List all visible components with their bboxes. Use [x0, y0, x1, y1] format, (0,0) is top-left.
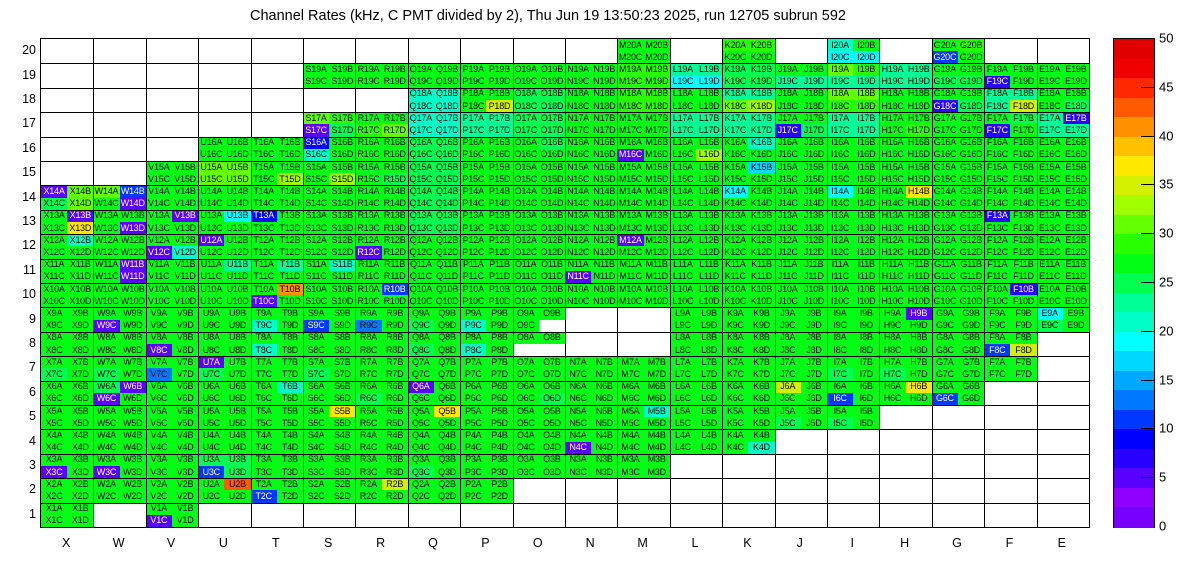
heatmap-channel-cell: U12A	[198, 234, 224, 246]
heatmap-channel-cell: P5A	[460, 405, 486, 417]
heatmap-channel-cell: S5A	[303, 405, 329, 417]
heatmap-channel-cell: E17C	[1037, 124, 1063, 136]
heatmap-channel-cell	[565, 332, 591, 344]
heatmap-channel-cell: K10B	[748, 283, 774, 295]
heatmap-channel-cell: V5C	[146, 417, 172, 429]
heatmap-channel-cell: T14D	[277, 198, 303, 210]
heatmap-channel-cell: Q14D	[434, 198, 460, 210]
heatmap-channel-cell: L10D	[696, 295, 722, 307]
heatmap-channel-cell: H7C	[879, 368, 905, 380]
heatmap-channel-cell: V13D	[172, 222, 198, 234]
heatmap-channel-cell: F15A	[984, 161, 1010, 173]
heatmap-channel-cell: R13C	[355, 222, 381, 234]
heatmap-channel-cell: Q3B	[434, 454, 460, 466]
heatmap-channel-cell: P13B	[486, 210, 512, 222]
heatmap-channel-cell: H9B	[906, 307, 932, 319]
heatmap-channel-cell: R13B	[382, 210, 408, 222]
heatmap-channel-cell: J9C	[775, 320, 801, 332]
heatmap-channel-cell: W11A	[93, 259, 119, 271]
heatmap-channel-cell: R3B	[382, 454, 408, 466]
heatmap-channel-cell: E14C	[1037, 198, 1063, 210]
heatmap-channel-cell: M15B	[644, 161, 670, 173]
heatmap-channel-cell: I13B	[853, 210, 879, 222]
heatmap-channel-cell: P11B	[486, 259, 512, 271]
y-axis-tick-label: 17	[8, 116, 36, 130]
grid-line-horizontal	[41, 185, 1089, 186]
heatmap-channel-cell	[879, 405, 905, 417]
heatmap-channel-cell: X5C	[41, 417, 67, 429]
heatmap-channel-cell: O18A	[513, 88, 539, 100]
heatmap-channel-cell: U5C	[198, 417, 224, 429]
heatmap-channel-cell	[1037, 332, 1063, 344]
heatmap-channel-cell: O6B	[539, 381, 565, 393]
heatmap-channel-cell: G15A	[932, 161, 958, 173]
heatmap-channel-cell: L11D	[696, 271, 722, 283]
heatmap-channel-cell: T2D	[277, 490, 303, 502]
heatmap-channel-cell: E18C	[1037, 100, 1063, 112]
heatmap-channel-cell: Q11C	[408, 271, 434, 283]
heatmap-channel-cell: H9D	[906, 320, 932, 332]
heatmap-channel-cell: G19C	[932, 76, 958, 88]
heatmap-channel-cell: F8D	[1010, 344, 1036, 356]
heatmap-channel-cell: X2B	[67, 478, 93, 490]
heatmap-channel-cell: G20B	[958, 39, 984, 51]
heatmap-channel-cell: V10D	[172, 295, 198, 307]
heatmap-channel-cell: I10D	[853, 295, 879, 307]
x-axis-tick-label: O	[518, 536, 558, 550]
heatmap-channel-cell: K10A	[722, 283, 748, 295]
heatmap-channel-cell: S15D	[329, 173, 355, 185]
heatmap-channel-cell: W8A	[93, 332, 119, 344]
heatmap-channel-cell: J12B	[801, 234, 827, 246]
heatmap-channel-cell: N17A	[565, 112, 591, 124]
colorbar-tick-label: 50	[1159, 31, 1173, 46]
heatmap-channel-cell: U13D	[224, 222, 250, 234]
heatmap-channel-cell: X7D	[67, 368, 93, 380]
heatmap-channel-cell: O9B	[539, 307, 565, 319]
heatmap-channel-cell: Q2D	[434, 490, 460, 502]
heatmap-channel-cell: N11A	[565, 259, 591, 271]
heatmap-channel-cell: S2C	[303, 490, 329, 502]
heatmap-channel-cell: N13D	[591, 222, 617, 234]
heatmap-channel-cell: S4C	[303, 442, 329, 454]
heatmap-channel-cell: S5D	[329, 417, 355, 429]
heatmap-channel-cell: L7D	[696, 368, 722, 380]
heatmap-channel-cell: E16D	[1063, 149, 1089, 161]
heatmap-channel-cell: N5D	[591, 417, 617, 429]
heatmap-channel-cell	[1063, 405, 1089, 417]
heatmap-channel-cell: E15B	[1063, 161, 1089, 173]
heatmap-channel-cell: F11C	[984, 271, 1010, 283]
heatmap-channel-cell: S11A	[303, 259, 329, 271]
colorbar-tick-label: 25	[1159, 275, 1173, 290]
heatmap-channel-cell: P9D	[486, 320, 512, 332]
heatmap-channel-cell: Q6C	[408, 393, 434, 405]
heatmap-channel-cell: G16A	[932, 137, 958, 149]
heatmap-channel-cell: T10C	[251, 295, 277, 307]
heatmap-channel-cell: Q3A	[408, 454, 434, 466]
heatmap-channel-cell: U4D	[224, 442, 250, 454]
heatmap-channel-cell: G8A	[932, 332, 958, 344]
heatmap-channel-cell: M18A	[617, 88, 643, 100]
heatmap-channel-cell: O19D	[539, 76, 565, 88]
heatmap-channel-cell: V12A	[146, 234, 172, 246]
heatmap-channel-cell: P11D	[486, 271, 512, 283]
heatmap-channel-cell: R11C	[355, 271, 381, 283]
heatmap-channel-cell: S6C	[303, 393, 329, 405]
heatmap-channel-cell: L8B	[696, 332, 722, 344]
heatmap-channel-cell: H16D	[906, 149, 932, 161]
heatmap-channel-cell: X12D	[67, 246, 93, 258]
heatmap-channel-cell: J16B	[801, 137, 827, 149]
heatmap-channel-cell: G10A	[932, 283, 958, 295]
heatmap-channel-cell: L5B	[696, 405, 722, 417]
heatmap-channel-cell: S14A	[303, 185, 329, 197]
heatmap-channel-cell: N17B	[591, 112, 617, 124]
heatmap-channel-cell: N19C	[565, 76, 591, 88]
heatmap-channel-cell: J18B	[801, 88, 827, 100]
heatmap-channel-cell: O19B	[539, 63, 565, 75]
heatmap-channel-cell: Q19D	[434, 76, 460, 88]
heatmap-channel-cell: O5D	[539, 417, 565, 429]
heatmap-channel-cell: V14D	[172, 198, 198, 210]
heatmap-channel-cell: Q4A	[408, 429, 434, 441]
heatmap-channel-cell: O13A	[513, 210, 539, 222]
heatmap-channel-cell: F16D	[1010, 149, 1036, 161]
heatmap-channel-cell: F13B	[1010, 210, 1036, 222]
heatmap-channel-cell: N13C	[565, 222, 591, 234]
heatmap-channel-cell: M18D	[644, 100, 670, 112]
heatmap-channel-cell: L15B	[696, 161, 722, 173]
heatmap-channel-cell: P10D	[486, 295, 512, 307]
heatmap-channel-cell: T8D	[277, 344, 303, 356]
heatmap-channel-cell: X9C	[41, 320, 67, 332]
heatmap-channel-cell: G18A	[932, 88, 958, 100]
colorbar-tick	[1141, 477, 1155, 478]
heatmap-channel-cell: H12D	[906, 246, 932, 258]
heatmap-channel-cell: N15D	[591, 173, 617, 185]
heatmap-channel-cell: O14C	[513, 198, 539, 210]
heatmap-channel-cell: H10C	[879, 295, 905, 307]
heatmap-channel-cell: L7B	[696, 356, 722, 368]
heatmap-channel-cell: U2D	[224, 490, 250, 502]
heatmap-channel-cell: J9D	[801, 320, 827, 332]
heatmap-channel-cell: S8C	[303, 344, 329, 356]
heatmap-channel-cell: M14C	[617, 198, 643, 210]
heatmap-channel-cell: R14B	[382, 185, 408, 197]
heatmap-channel-cell: X5D	[67, 417, 93, 429]
heatmap-channel-cell: T4D	[277, 442, 303, 454]
heatmap-channel-cell: Q5B	[434, 405, 460, 417]
heatmap-channel-cell: T7D	[277, 368, 303, 380]
heatmap-channel-cell: W9D	[120, 320, 146, 332]
heatmap-channel-cell: U5A	[198, 405, 224, 417]
heatmap-channel-cell: V11A	[146, 259, 172, 271]
heatmap-channel-cell: J14B	[801, 185, 827, 197]
heatmap-channel-cell: T13C	[251, 222, 277, 234]
heatmap-channel-cell: G11D	[958, 271, 984, 283]
heatmap-channel-cell: F9D	[1010, 320, 1036, 332]
heatmap-channel-cell: E11B	[1063, 259, 1089, 271]
heatmap-channel-cell: Q7B	[434, 356, 460, 368]
heatmap-channel-cell: H7D	[906, 368, 932, 380]
heatmap-channel-cell: U7B	[224, 356, 250, 368]
heatmap-channel-cell: P3D	[486, 466, 512, 478]
heatmap-channel-cell: I16A	[827, 137, 853, 149]
heatmap-channel-cell: K20B	[748, 39, 774, 51]
heatmap-channel-cell: O5B	[539, 405, 565, 417]
heatmap-channel-cell: U11D	[224, 271, 250, 283]
heatmap-channel-cell: Q14A	[408, 185, 434, 197]
heatmap-channel-cell: V2C	[146, 490, 172, 502]
heatmap-channel-cell: R3C	[355, 466, 381, 478]
heatmap-channel-cell: O11A	[513, 259, 539, 271]
heatmap-channel-cell: J5C	[775, 417, 801, 429]
heatmap-channel-cell	[775, 442, 801, 454]
heatmap-channel-cell: N12A	[565, 234, 591, 246]
heatmap-channel-cell: G17D	[958, 124, 984, 136]
heatmap-channel-cell: P7B	[486, 356, 512, 368]
heatmap-channel-cell: G11A	[932, 259, 958, 271]
heatmap-channel-cell: K20C	[722, 51, 748, 63]
heatmap-channel-cell: W6B	[120, 381, 146, 393]
heatmap-channel-cell: T13D	[277, 222, 303, 234]
heatmap-channel-cell: X14B	[67, 185, 93, 197]
heatmap-channel-cell: E12D	[1063, 246, 1089, 258]
heatmap-channel-cell: W13D	[120, 222, 146, 234]
heatmap-channel-cell: N11C	[565, 271, 591, 283]
heatmap-channel-cell: L11A	[670, 259, 696, 271]
heatmap-channel-cell: O17A	[513, 112, 539, 124]
heatmap-channel-cell: T11D	[277, 271, 303, 283]
y-axis-tick-label: 8	[8, 336, 36, 350]
heatmap-channel-cell: L19A	[670, 63, 696, 75]
heatmap-channel-cell: P9A	[460, 307, 486, 319]
heatmap-channel-cell: M4B	[644, 429, 670, 441]
heatmap-channel-cell: Q8D	[434, 344, 460, 356]
heatmap-channel-cell: Q4B	[434, 429, 460, 441]
heatmap-channel-cell: N18A	[565, 88, 591, 100]
heatmap-channel-cell: T8B	[277, 332, 303, 344]
heatmap-channel-cell: R12B	[382, 234, 408, 246]
heatmap-channel-cell: P19D	[486, 76, 512, 88]
heatmap-channel-cell: S7A	[303, 356, 329, 368]
heatmap-channel-cell: O17D	[539, 124, 565, 136]
heatmap-channel-cell: J10D	[801, 295, 827, 307]
heatmap-channel-cell: N15B	[591, 161, 617, 173]
heatmap-channel-cell: I7C	[827, 368, 853, 380]
heatmap-channel-cell: S17D	[329, 124, 355, 136]
heatmap-channel-cell: N6A	[565, 381, 591, 393]
y-axis-tick-label: 12	[8, 238, 36, 252]
heatmap-channel-cell: U10C	[198, 295, 224, 307]
heatmap-channel-cell: I15B	[853, 161, 879, 173]
heatmap-channel-cell: R19C	[355, 76, 381, 88]
heatmap-channel-cell: V1D	[172, 515, 198, 527]
heatmap-channel-cell: M11B	[644, 259, 670, 271]
x-axis-tick-label: X	[46, 536, 86, 550]
heatmap-channel-cell: F10C	[984, 295, 1010, 307]
heatmap-channel-cell: U12D	[224, 246, 250, 258]
heatmap-channel-cell: R10B	[382, 283, 408, 295]
heatmap-channel-cell: S4A	[303, 429, 329, 441]
heatmap-channel-cell: R11B	[382, 259, 408, 271]
heatmap-channel-cell: K7A	[722, 356, 748, 368]
heatmap-channel-cell: P17A	[460, 112, 486, 124]
heatmap-channel-cell: U14C	[198, 198, 224, 210]
heatmap-channel-cell: T7A	[251, 356, 277, 368]
heatmap-channel-cell: O13D	[539, 222, 565, 234]
heatmap-channel-cell: H12C	[879, 246, 905, 258]
heatmap-channel-cell: T8C	[251, 344, 277, 356]
y-axis-tick-label: 6	[8, 385, 36, 399]
heatmap-channel-cell: E16C	[1037, 149, 1063, 161]
heatmap-channel-cell: L7A	[670, 356, 696, 368]
heatmap-channel-cell: T3B	[277, 454, 303, 466]
heatmap-channel-cell: E16A	[1037, 137, 1063, 149]
heatmap-channel-cell: P12B	[486, 234, 512, 246]
heatmap-channel-cell: W8B	[120, 332, 146, 344]
heatmap-channel-cell: V8C	[146, 344, 172, 356]
heatmap-channel-cell: P14D	[486, 198, 512, 210]
heatmap-channel-cell: L9C	[670, 320, 696, 332]
heatmap-channel-cell: Q3D	[434, 466, 460, 478]
heatmap-channel-cell: O6A	[513, 381, 539, 393]
heatmap-channel-cell: T2B	[277, 478, 303, 490]
heatmap-channel-cell: O12A	[513, 234, 539, 246]
heatmap-channel-cell: J11C	[775, 271, 801, 283]
heatmap-channel-cell: O10B	[539, 283, 565, 295]
heatmap-channel-cell: H10A	[879, 283, 905, 295]
colorbar-tick-label: 35	[1159, 177, 1173, 192]
heatmap-channel-cell: V10C	[146, 295, 172, 307]
heatmap-channel-cell: G9D	[958, 320, 984, 332]
heatmap-channel-cell: P8B	[486, 332, 512, 344]
heatmap-channel-cell: F12A	[984, 234, 1010, 246]
heatmap-channel-cell: W9B	[120, 307, 146, 319]
heatmap-channel-cell: L18A	[670, 88, 696, 100]
heatmap-channel-cell: N16A	[565, 137, 591, 149]
heatmap-channel-cell: O7C	[513, 368, 539, 380]
heatmap-channel-cell: I14B	[853, 185, 879, 197]
heatmap-channel-cell: N18D	[591, 100, 617, 112]
heatmap-channel-cell: S12D	[329, 246, 355, 258]
x-axis-tick-label: N	[570, 536, 610, 550]
heatmap-channel-cell	[1063, 381, 1089, 393]
heatmap-channel-cell: H17B	[906, 112, 932, 124]
heatmap-channel-cell: G19B	[958, 63, 984, 75]
grid-line-horizontal	[41, 307, 1089, 308]
x-axis-tick-label: J	[780, 536, 820, 550]
heatmap-channel-cell: X12C	[41, 246, 67, 258]
heatmap-channel-cell: U3D	[224, 466, 250, 478]
colorbar-tick-label: 40	[1159, 128, 1173, 143]
heatmap-channel-cell: T5D	[277, 417, 303, 429]
heatmap-channel-cell	[827, 429, 853, 441]
heatmap-channel-cell: W2D	[120, 490, 146, 502]
heatmap-channel-cell: T16C	[251, 149, 277, 161]
heatmap-channel-cell	[1037, 417, 1063, 429]
heatmap-channel-cell: O8A	[513, 332, 539, 344]
heatmap-channel-cell: X6C	[41, 393, 67, 405]
heatmap-channel-cell: R9C	[355, 320, 381, 332]
heatmap-channel-cell: S9C	[303, 320, 329, 332]
heatmap-channel-cell: K9C	[722, 320, 748, 332]
grid-line-horizontal	[41, 332, 1089, 333]
heatmap-channel-cell: K7D	[748, 368, 774, 380]
heatmap-channel-cell: H11D	[906, 271, 932, 283]
heatmap-channel-cell: P16B	[486, 137, 512, 149]
heatmap-channel-cell: U5D	[224, 417, 250, 429]
heatmap-channel-cell: E10A	[1037, 283, 1063, 295]
heatmap-channel-cell: U8D	[224, 344, 250, 356]
heatmap-channel-cell: W4B	[120, 429, 146, 441]
heatmap-channel-cell: P6A	[460, 381, 486, 393]
heatmap-channel-cell	[984, 417, 1010, 429]
heatmap-channel-cell: I18B	[853, 88, 879, 100]
heatmap-channel-cell: M14D	[644, 198, 670, 210]
heatmap-channel-cell: J7B	[801, 356, 827, 368]
heatmap-channel-cell	[932, 405, 958, 417]
grid-line-horizontal	[41, 210, 1089, 211]
heatmap-channel-cell: J14D	[801, 198, 827, 210]
x-axis-tick-label: K	[727, 536, 767, 550]
heatmap-channel-cell: U14B	[224, 185, 250, 197]
heatmap-channel-cell: U4C	[198, 442, 224, 454]
heatmap-channel-cell: L9A	[670, 307, 696, 319]
heatmap-channel-cell: N10B	[591, 283, 617, 295]
heatmap-channel-cell: G14C	[932, 198, 958, 210]
heatmap-channel-cell: P16C	[460, 149, 486, 161]
heatmap-channel-cell: R2B	[382, 478, 408, 490]
heatmap-channel-cell: X9D	[67, 320, 93, 332]
heatmap-channel-cell: H7A	[879, 356, 905, 368]
heatmap-channel-cell: F18D	[1010, 100, 1036, 112]
heatmap-channel-cell	[539, 320, 565, 332]
heatmap-channel-cell: W14D	[120, 198, 146, 210]
colorbar-tick	[1141, 184, 1155, 185]
heatmap-channel-cell: G12D	[958, 246, 984, 258]
heatmap-channel-cell: T15D	[277, 173, 303, 185]
heatmap-channel-cell: P13C	[460, 222, 486, 234]
heatmap-channel-cell: V11D	[172, 271, 198, 283]
heatmap-channel-cell: N14A	[565, 185, 591, 197]
heatmap-channel-cell: U6B	[224, 381, 250, 393]
heatmap-channel-cell: N4B	[591, 429, 617, 441]
heatmap-channel-cell: G6B	[958, 381, 984, 393]
heatmap-channel-cell: K17D	[748, 124, 774, 136]
heatmap-channel-cell: W7C	[93, 368, 119, 380]
heatmap-channel-cell: J9A	[775, 307, 801, 319]
heatmap-channel-cell: K8A	[722, 332, 748, 344]
heatmap-channel-cell: J18A	[775, 88, 801, 100]
heatmap-channel-cell	[1037, 381, 1063, 393]
heatmap-channel-cell: R2A	[355, 478, 381, 490]
heatmap-channel-cell: W8D	[120, 344, 146, 356]
heatmap-channel-cell: T13B	[277, 210, 303, 222]
heatmap-channel-cell: S4D	[329, 442, 355, 454]
heatmap-channel-cell: Q19A	[408, 63, 434, 75]
heatmap-channel-cell: F12D	[1010, 246, 1036, 258]
heatmap-channel-cell: X10A	[41, 283, 67, 295]
grid-line-horizontal	[41, 356, 1089, 357]
y-axis-tick-label: 2	[8, 482, 36, 496]
heatmap-channel-cell: S12A	[303, 234, 329, 246]
heatmap-channel-cell: H14D	[906, 198, 932, 210]
heatmap-channel-cell: X14D	[67, 198, 93, 210]
heatmap-channel-cell: X6B	[67, 381, 93, 393]
heatmap-channel-cell: M3A	[617, 454, 643, 466]
